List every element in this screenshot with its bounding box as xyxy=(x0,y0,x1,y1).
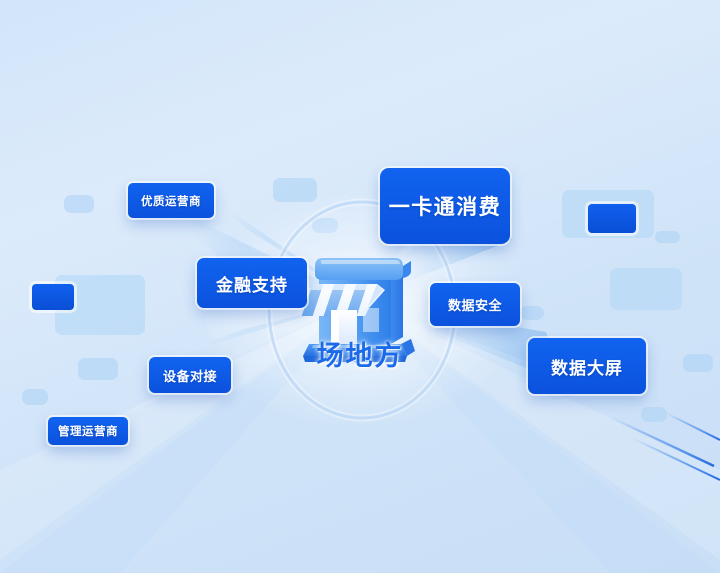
feature-chip-operator-label: 优质运营商 xyxy=(141,193,201,209)
feature-chip-device[interactable]: 设备对接 xyxy=(149,357,231,393)
feature-chip-security-label: 数据安全 xyxy=(448,295,502,314)
feature-chip-bigscreen-label: 数据大屏 xyxy=(551,354,623,379)
infographic-canvas: 场地方 一卡通消费 数据大屏 金融支持 数据安全 设备对接 优质运营商 管理运营… xyxy=(0,0,720,573)
feature-chip-onecard-label: 一卡通消费 xyxy=(389,191,502,221)
feature-chip-finance-label: 金融支持 xyxy=(216,271,288,296)
center-title: 场地方 xyxy=(255,334,465,373)
feature-chip-finance[interactable]: 金融支持 xyxy=(197,258,307,308)
feature-chip-security[interactable]: 数据安全 xyxy=(430,283,520,326)
feature-chip-manage-label: 管理运营商 xyxy=(58,423,118,439)
feature-chip-onecard[interactable]: 一卡通消费 xyxy=(380,168,510,244)
feature-chip-bigscreen[interactable]: 数据大屏 xyxy=(528,338,646,394)
feature-chip-manage[interactable]: 管理运营商 xyxy=(48,417,128,445)
feature-chip-device-label: 设备对接 xyxy=(163,366,217,385)
feature-chip-operator[interactable]: 优质运营商 xyxy=(128,183,214,218)
